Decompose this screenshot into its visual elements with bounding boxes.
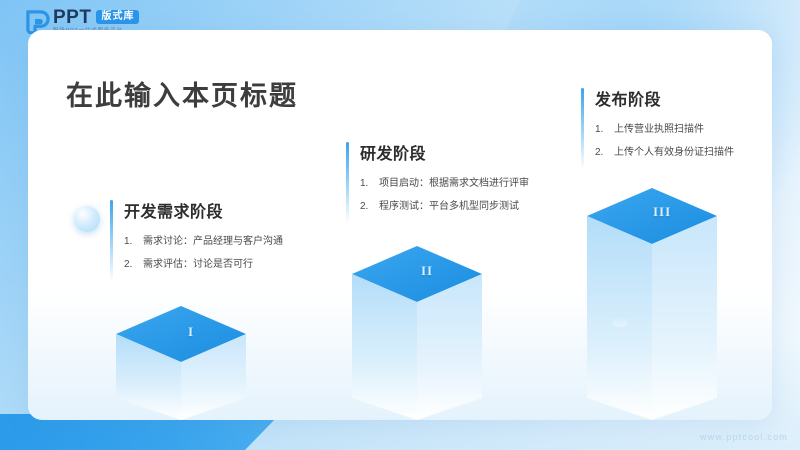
list-item: 2. 程序测试：平台多机型同步测试 (360, 199, 535, 215)
watermark: www.pptcool.com (700, 432, 788, 442)
stage-1-title: 开发需求阶段 (124, 198, 299, 222)
pillar-1-shape (116, 306, 246, 420)
stage-1-item-2-number: 2. (124, 257, 143, 273)
stage-block-2: 研发阶段 1. 项目启动：根据需求文档进行评审 2. 程序测试：平台多机型同步测… (346, 140, 535, 221)
list-item: 1. 项目启动：根据需求文档进行评审 (360, 176, 535, 192)
stage-3-title: 发布阶段 (595, 86, 770, 110)
presentation-slide: PPT 版式库 职场PPT一站式服务平台 在此输入本页标题 (0, 0, 800, 450)
list-item: 2. 上传个人有效身份证扫描件 (595, 145, 770, 161)
slide-card: 在此输入本页标题 I (28, 30, 772, 420)
stage-3-item-2-text: 上传个人有效身份证扫描件 (614, 145, 770, 161)
brand-name: PPT (53, 8, 91, 27)
page-title: 在此输入本页标题 (66, 74, 298, 113)
brand-badge: 版式库 (96, 10, 139, 24)
stage-3-accent-bar (581, 88, 584, 169)
decorative-sphere (74, 206, 100, 232)
stage-1-accent-bar (110, 200, 113, 281)
stage-2-accent-bar (346, 142, 349, 223)
stage-2-item-2-number: 2. (360, 199, 379, 215)
stage-2-item-2-text: 程序测试：平台多机型同步测试 (379, 199, 535, 215)
pillar-3-shape (587, 188, 717, 420)
pillar-stage-1: I (116, 306, 246, 420)
stage-1-item-2-text: 需求评估：讨论是否可行 (143, 257, 299, 273)
stage-1-list: 1. 需求讨论：产品经理与客户沟通 2. 需求评估：讨论是否可行 (124, 234, 299, 272)
stage-3-item-2-number: 2. (595, 145, 614, 161)
stage-2-list: 1. 项目启动：根据需求文档进行评审 2. 程序测试：平台多机型同步测试 (360, 176, 535, 214)
list-item: 2. 需求评估：讨论是否可行 (124, 257, 299, 273)
pillar-2-shape (352, 246, 482, 420)
stage-1-item-1-number: 1. (124, 234, 143, 250)
stage-2-item-1-number: 1. (360, 176, 379, 192)
decorative-droplet (612, 316, 628, 327)
stage-3-item-1-text: 上传营业执照扫描件 (614, 122, 770, 138)
pillar-stage-3: III (587, 188, 717, 420)
stage-2-title: 研发阶段 (360, 140, 535, 164)
list-item: 1. 上传营业执照扫描件 (595, 122, 770, 138)
list-item: 1. 需求讨论：产品经理与客户沟通 (124, 234, 299, 250)
stage-block-3: 发布阶段 1. 上传营业执照扫描件 2. 上传个人有效身份证扫描件 (581, 86, 770, 167)
pillar-stage-2: II (352, 246, 482, 420)
stage-block-1: 开发需求阶段 1. 需求讨论：产品经理与客户沟通 2. 需求评估：讨论是否可行 (110, 198, 299, 279)
stage-3-item-1-number: 1. (595, 122, 614, 138)
stage-3-list: 1. 上传营业执照扫描件 2. 上传个人有效身份证扫描件 (595, 122, 770, 160)
stage-1-item-1-text: 需求讨论：产品经理与客户沟通 (143, 234, 299, 250)
stage-2-item-1-text: 项目启动：根据需求文档进行评审 (379, 176, 535, 192)
